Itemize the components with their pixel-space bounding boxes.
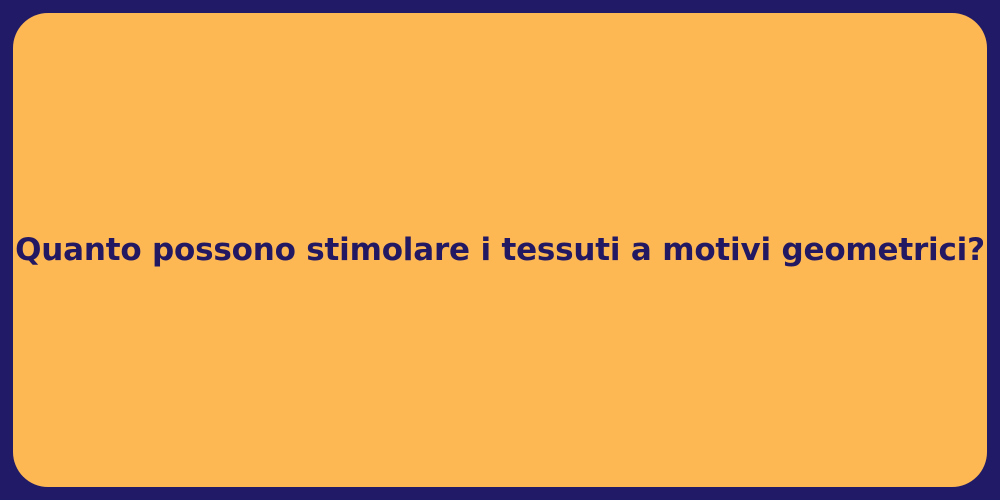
card-frame: Quanto possono stimolare i tessuti a mot… xyxy=(0,0,1000,500)
page-title: Quanto possono stimolare i tessuti a mot… xyxy=(0,231,1000,270)
card-panel: Quanto possono stimolare i tessuti a mot… xyxy=(13,13,987,487)
